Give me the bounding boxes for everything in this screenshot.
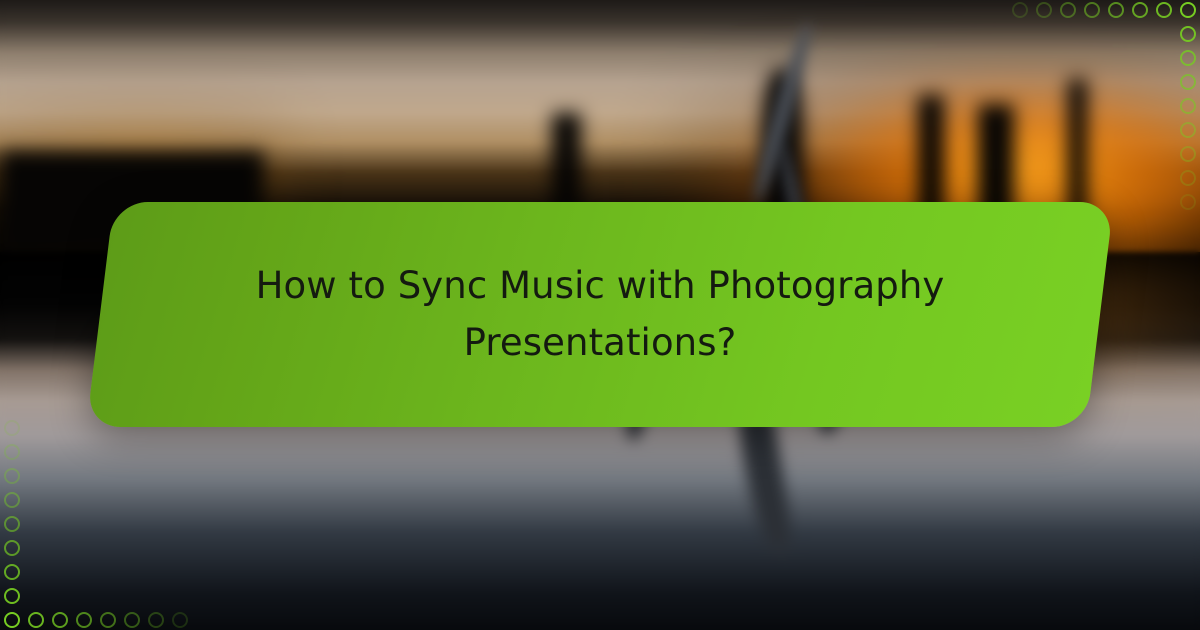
- ring-cluster-top-right-row: [1012, 2, 1196, 18]
- ring-dot-icon: [1180, 146, 1196, 162]
- ring-dot-icon: [4, 564, 20, 580]
- poster-canvas: How to Sync Music with Photography Prese…: [0, 0, 1200, 630]
- ring-dot-icon: [172, 612, 188, 628]
- ring-dot-icon: [4, 612, 20, 628]
- ring-dot-icon: [1060, 2, 1076, 18]
- ring-dot-icon: [76, 612, 92, 628]
- ring-dot-icon: [1180, 26, 1196, 42]
- ring-dot-icon: [1036, 2, 1052, 18]
- ring-dot-icon: [1180, 74, 1196, 90]
- ring-dot-icon: [1180, 170, 1196, 186]
- ring-dot-icon: [4, 540, 20, 556]
- ring-dot-icon: [1108, 2, 1124, 18]
- ring-dot-icon: [1180, 2, 1196, 18]
- ring-dot-icon: [4, 588, 20, 604]
- ring-dot-icon: [100, 612, 116, 628]
- ring-dot-icon: [1180, 50, 1196, 66]
- ring-dot-icon: [1180, 122, 1196, 138]
- ring-cluster-top-right-column: [1180, 26, 1196, 210]
- ring-dot-icon: [52, 612, 68, 628]
- ring-dot-icon: [4, 516, 20, 532]
- ring-dot-icon: [1180, 98, 1196, 114]
- ring-cluster-bottom-left-row: [4, 612, 188, 628]
- ring-dot-icon: [4, 468, 20, 484]
- page-title: How to Sync Music with Photography Prese…: [220, 258, 980, 370]
- ring-dot-icon: [1180, 194, 1196, 210]
- ring-dot-icon: [1156, 2, 1172, 18]
- title-card: How to Sync Music with Photography Prese…: [100, 202, 1100, 427]
- ring-dot-icon: [1084, 2, 1100, 18]
- ring-cluster-bottom-left-column: [4, 420, 20, 604]
- ring-dot-icon: [28, 612, 44, 628]
- ring-dot-icon: [1132, 2, 1148, 18]
- ring-dot-icon: [1012, 2, 1028, 18]
- ring-dot-icon: [148, 612, 164, 628]
- title-card-content: How to Sync Music with Photography Prese…: [100, 202, 1100, 427]
- ring-dot-icon: [4, 420, 20, 436]
- ring-dot-icon: [124, 612, 140, 628]
- ring-dot-icon: [4, 444, 20, 460]
- ring-dot-icon: [4, 492, 20, 508]
